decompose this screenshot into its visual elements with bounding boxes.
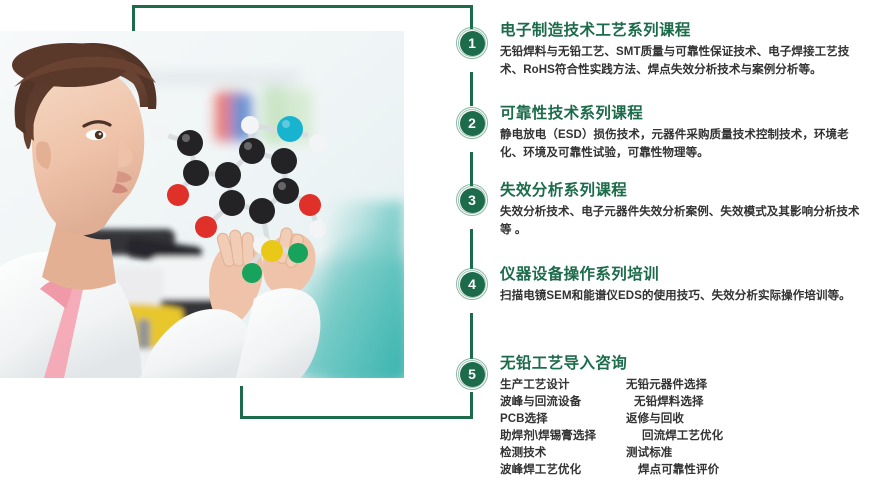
service-item-left: 生产工艺设计: [500, 377, 626, 394]
service-item-left: 波峰与回流设备: [500, 394, 626, 411]
step-marker-5[interactable]: 5: [456, 358, 488, 390]
service-item-left: 波峰焊工艺优化: [500, 462, 626, 479]
section-1-description: 无铅焊料与无铅工艺、SMT质量与可靠性保证技术、电子焊接工艺技术、RoHS符合性…: [500, 44, 870, 80]
step-number-5: 5: [460, 362, 485, 387]
service-item-list: 生产工艺设计 无铅元器件选择 波峰与回流设备 无铅焊料选择 PCB选择 返修与回…: [500, 377, 870, 479]
bracket-bottom-left-riser: [240, 386, 243, 419]
section-2-title: 可靠性技术系列课程: [500, 104, 870, 123]
service-item-left: 助焊剂\焊锡膏选择: [500, 428, 626, 445]
section-1-title: 电子制造技术工艺系列课程: [500, 21, 870, 40]
service-item-right: 测试标准: [626, 445, 870, 462]
connector-4-5: [470, 313, 473, 359]
bracket-top-left-riser: [132, 5, 135, 31]
step-number-2: 2: [460, 111, 485, 136]
course-section-2: 可靠性技术系列课程 静电放电（ESD）损伤技术，元器件采购质量技术控制技术，环境…: [500, 104, 870, 163]
service-row: 波峰与回流设备 无铅焊料选择: [500, 394, 870, 411]
step-marker-2[interactable]: 2: [456, 107, 488, 139]
service-item-right: 焊点可靠性评价: [626, 462, 870, 479]
service-row: 波峰焊工艺优化 焊点可靠性评价: [500, 462, 870, 479]
section-3-title: 失效分析系列课程: [500, 181, 870, 200]
infographic-root: 1 2 3 4 5 电子制造技术工艺系列课程 无铅焊料与无铅工艺、SMT质量与可…: [0, 0, 870, 500]
service-row: PCB选择 返修与回收: [500, 411, 870, 428]
step-marker-4[interactable]: 4: [456, 268, 488, 300]
course-section-3: 失效分析系列课程 失效分析技术、电子元器件失效分析案例、失效模式及其影响分析技术…: [500, 181, 870, 240]
lab-scientist-photo: [0, 31, 404, 378]
service-row: 检测技术 测试标准: [500, 445, 870, 462]
connector-3-4: [470, 229, 473, 269]
service-item-right: 回流焊工艺优化: [626, 428, 870, 445]
section-4-title: 仪器设备操作系列培训: [500, 265, 870, 284]
service-item-right: 返修与回收: [626, 411, 870, 428]
service-item-left: 检测技术: [500, 445, 626, 462]
bracket-top-horizontal: [132, 5, 473, 8]
service-item-left: PCB选择: [500, 411, 626, 428]
service-item-right: 无铅元器件选择: [626, 377, 870, 394]
step-marker-3[interactable]: 3: [456, 184, 488, 216]
service-row: 助焊剂\焊锡膏选择 回流焊工艺优化: [500, 428, 870, 445]
step-marker-1[interactable]: 1: [456, 27, 488, 59]
service-item-right: 无铅焊料选择: [626, 394, 870, 411]
bracket-top-right-riser: [470, 5, 473, 29]
step-number-4: 4: [460, 272, 485, 297]
connector-2-3: [470, 152, 473, 186]
step-number-3: 3: [460, 188, 485, 213]
service-row: 生产工艺设计 无铅元器件选择: [500, 377, 870, 394]
course-section-5: 无铅工艺导入咨询 生产工艺设计 无铅元器件选择 波峰与回流设备 无铅焊料选择 P…: [500, 354, 870, 479]
course-section-1: 电子制造技术工艺系列课程 无铅焊料与无铅工艺、SMT质量与可靠性保证技术、电子焊…: [500, 21, 870, 80]
step-number-1: 1: [460, 31, 485, 56]
bracket-bottom-right-riser: [470, 392, 473, 419]
course-section-4: 仪器设备操作系列培训 扫描电镜SEM和能谱仪EDS的使用技巧、失效分析实际操作培…: [500, 265, 870, 306]
section-4-description: 扫描电镜SEM和能谱仪EDS的使用技巧、失效分析实际操作培训等。: [500, 288, 870, 306]
section-3-description: 失效分析技术、电子元器件失效分析案例、失效模式及其影响分析技术等 。: [500, 204, 870, 240]
connector-1-2: [470, 72, 473, 106]
section-5-title: 无铅工艺导入咨询: [500, 354, 870, 373]
bracket-bottom-horizontal: [240, 416, 473, 419]
section-2-description: 静电放电（ESD）损伤技术，元器件采购质量技术控制技术，环境老化、环境及可靠性试…: [500, 127, 870, 163]
